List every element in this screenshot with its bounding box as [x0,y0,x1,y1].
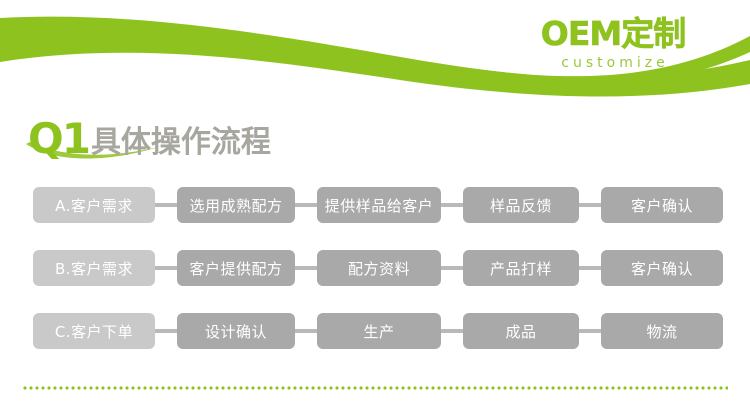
flow-node[interactable]: 客户提供配方 [177,250,295,286]
flow-row-a: A.客户需求 选用成熟配方 提供样品给客户 样品反馈 客户确认 [33,187,723,223]
flow-node[interactable]: 配方资料 [317,250,441,286]
flow-node[interactable]: 样品反馈 [463,187,579,223]
flow-connector [441,203,463,207]
flow-node[interactable]: 成品 [463,313,579,349]
process-flow: A.客户需求 选用成熟配方 提供样品给客户 样品反馈 客户确认 B.客户需求 客… [33,187,723,349]
flow-row-b: B.客户需求 客户提供配方 配方资料 产品打样 客户确认 [33,250,723,286]
flow-connector [579,203,601,207]
flow-connector [295,203,317,207]
flow-connector [155,266,177,270]
flow-node[interactable]: 物流 [601,313,723,349]
flow-node[interactable]: 生产 [317,313,441,349]
flow-connector [295,329,317,333]
brand-title: OEM定制 [518,16,708,52]
brand-block: OEM定制 customize [518,16,708,73]
section-title-label: 具体操作流程 [91,126,271,160]
flow-node[interactable]: 产品打样 [463,250,579,286]
green-dotted-line-icon [22,386,728,390]
flow-connector [441,329,463,333]
section-number: Q1 [28,118,89,160]
page-title: Q1 具体操作流程 [28,108,271,160]
flow-connector [441,266,463,270]
flow-node[interactable]: 客户确认 [601,187,723,223]
flow-connector [155,329,177,333]
flow-connector [579,329,601,333]
flow-node[interactable]: 提供样品给客户 [317,187,441,223]
flow-connector [295,266,317,270]
flow-node[interactable]: 客户确认 [601,250,723,286]
oem-customize-flow-page: OEM定制 customize Q1 具体操作流程 A.客户需求 选用成熟配方 … [0,0,750,413]
brand-subtitle: customize [518,53,708,73]
flow-node[interactable]: C.客户下单 [33,313,155,349]
flow-connector [155,203,177,207]
flow-connector [579,266,601,270]
flow-node[interactable]: 设计确认 [177,313,295,349]
flow-node[interactable]: B.客户需求 [33,250,155,286]
flow-node[interactable]: 选用成熟配方 [177,187,295,223]
flow-node[interactable]: A.客户需求 [33,187,155,223]
flow-row-c: C.客户下单 设计确认 生产 成品 物流 [33,313,723,349]
